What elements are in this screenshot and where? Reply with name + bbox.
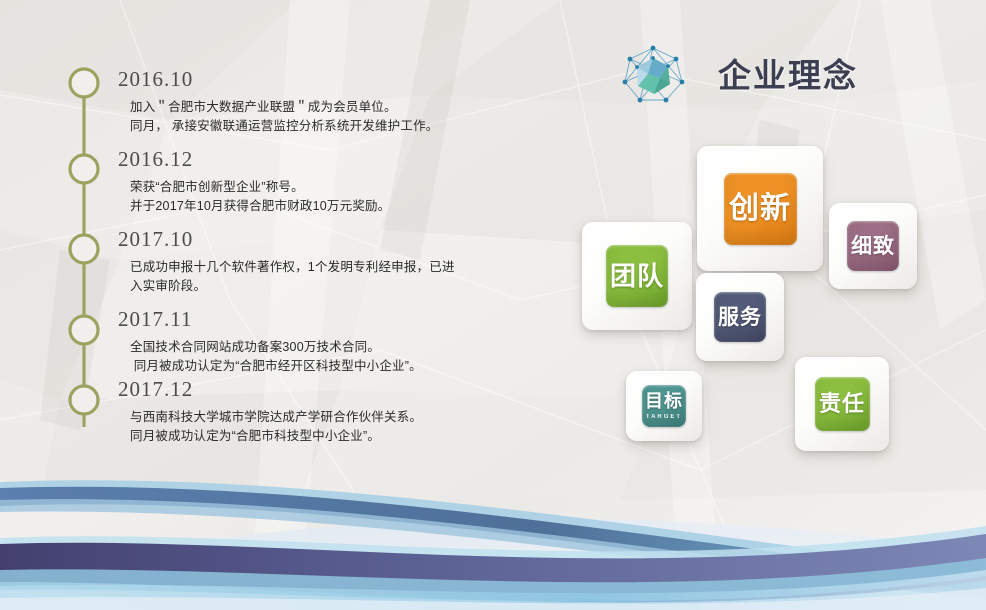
value-card-tile: 责任 bbox=[815, 377, 870, 431]
value-card[interactable]: 团队 bbox=[582, 222, 692, 330]
value-card[interactable]: 目标TARGET bbox=[626, 371, 702, 441]
value-card[interactable]: 细致 bbox=[829, 203, 917, 289]
value-card-label: 服务 bbox=[718, 307, 762, 328]
value-card-sublabel: TARGET bbox=[646, 414, 682, 420]
value-card-label: 创新 bbox=[729, 194, 791, 224]
value-card-label: 团队 bbox=[610, 263, 664, 289]
polygon-gem-network-icon bbox=[620, 44, 686, 106]
value-card-tile: 创新 bbox=[724, 173, 797, 245]
value-card[interactable]: 责任 bbox=[795, 357, 889, 451]
page-title: 企业理念 bbox=[718, 59, 858, 92]
slide-canvas: 企业理念 2016.10 加入＂合肥市大数据产业联盟＂成为会员单位。 bbox=[0, 0, 986, 610]
value-card-tile: 细致 bbox=[847, 221, 899, 271]
value-card-label: 细致 bbox=[851, 236, 895, 257]
value-card-label: 责任 bbox=[819, 393, 865, 415]
value-card[interactable]: 创新 bbox=[697, 146, 823, 271]
section-header: 企业理念 bbox=[620, 45, 858, 105]
value-card-tile: 目标TARGET bbox=[642, 385, 686, 427]
value-card[interactable]: 服务 bbox=[696, 273, 784, 361]
value-card-tile: 团队 bbox=[606, 245, 668, 307]
value-card-tile: 服务 bbox=[714, 292, 766, 342]
value-card-label: 目标 bbox=[645, 392, 683, 410]
